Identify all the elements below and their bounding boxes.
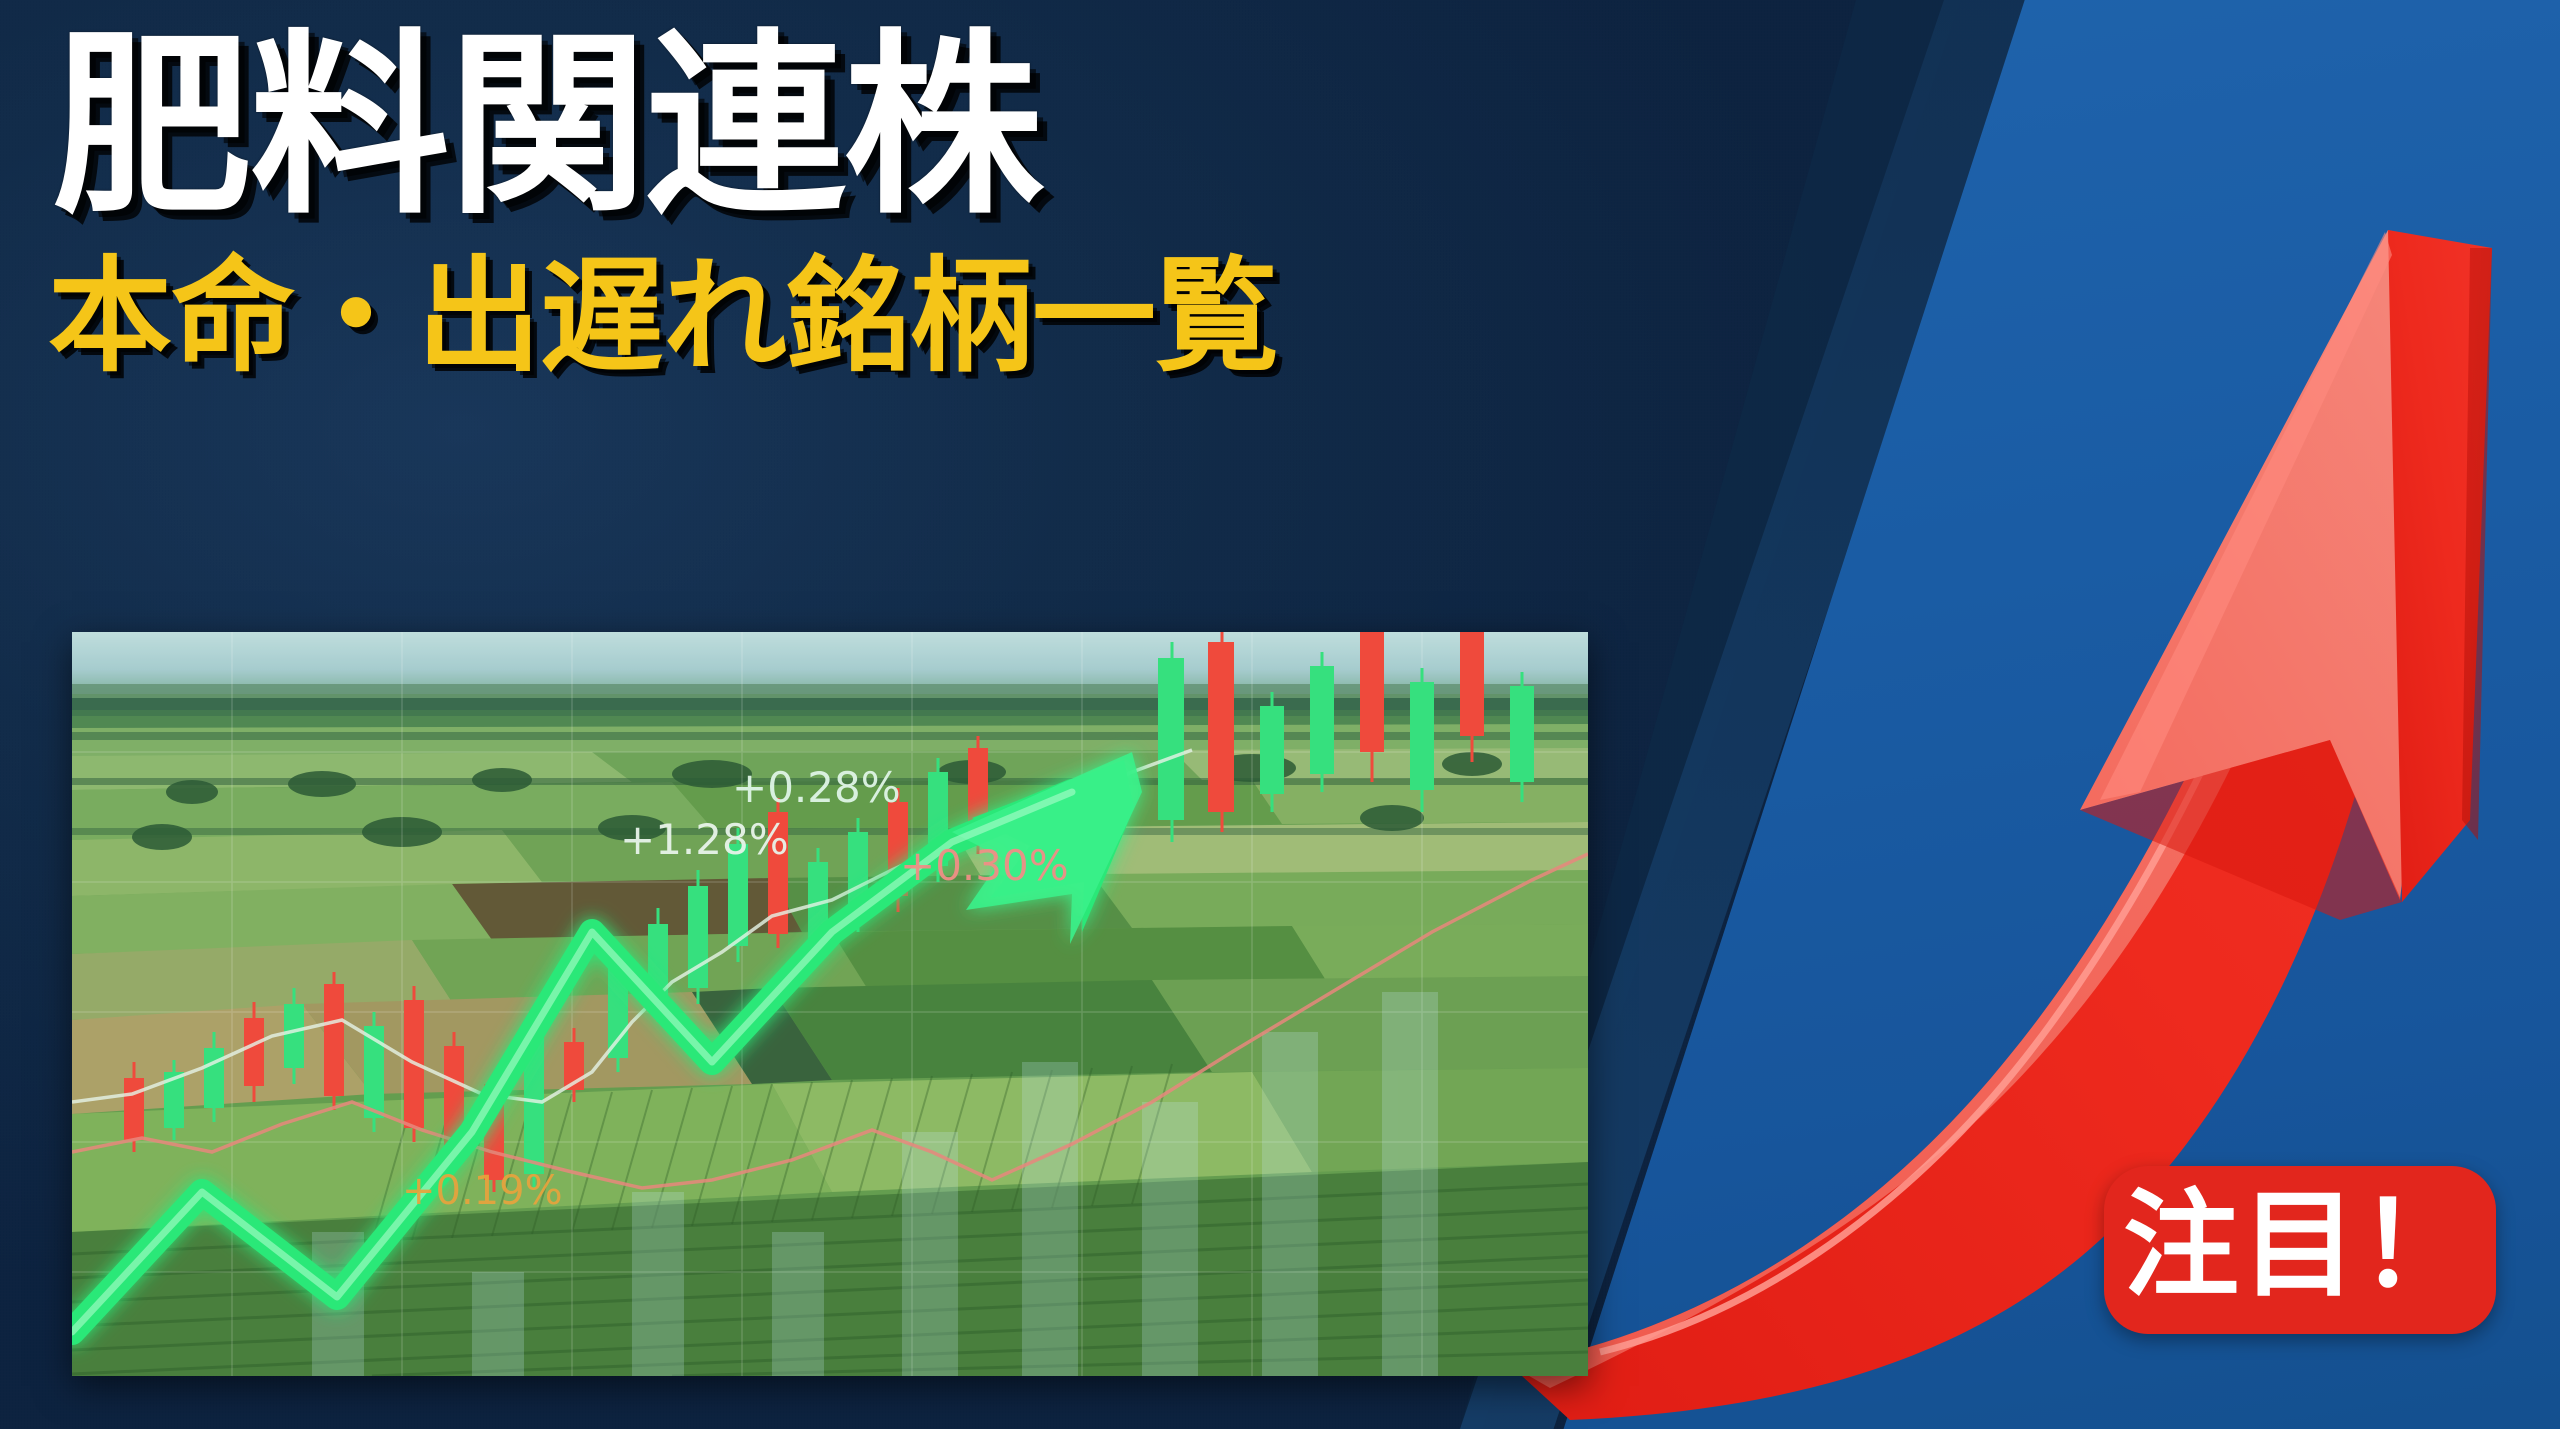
thumbnail-canvas: 肥料関連株 本命・出遅れ銘柄一覧 xyxy=(0,0,2560,1429)
chart-label-0: +0.19% xyxy=(402,1168,563,1214)
chart-label-3: +0.30% xyxy=(900,841,1069,890)
chart-label-2: +0.28% xyxy=(732,763,901,812)
page-title-main: 肥料関連株 xyxy=(52,28,1041,228)
page-title-sub: 本命・出遅れ銘柄一覧 xyxy=(48,252,1278,382)
attention-badge[interactable]: 注目！ xyxy=(2104,1166,2496,1334)
hero-photo-farmland-chart: +0.19% +1.28% +0.28% +0.30% xyxy=(72,632,1588,1376)
attention-badge-label: 注目！ xyxy=(2123,1188,2477,1304)
chart-label-1: +1.28% xyxy=(620,815,789,864)
